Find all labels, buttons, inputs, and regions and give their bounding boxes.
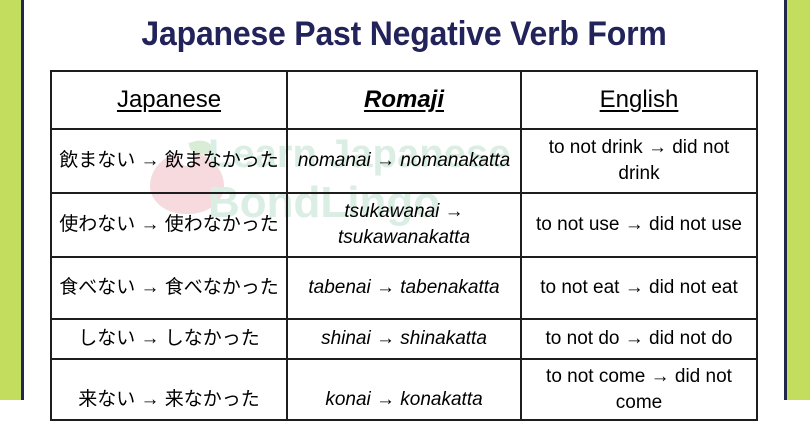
page-root: Japanese Past Negative Verb Form Learn J… [0,0,810,400]
cell-english: to not come → did not come [521,359,757,420]
column-header-japanese: Japanese [51,71,287,129]
table-row: 使わない → 使わなかった tsukawanai → tsukawanakatt… [51,193,757,257]
cell-romaji: tabenai → tabenakatta [287,257,521,319]
table-row: 飲まない → 飲まなかった nomanai → nomanakatta to n… [51,129,757,193]
table-row: 来ない → 来なかった konai → konakatta to not com… [51,359,757,420]
verb-form-table-wrapper: Japanese Romaji English 飲まない → 飲まなかった no… [50,70,756,421]
table-header-row: Japanese Romaji English [51,71,757,129]
divider-line-right [784,0,787,400]
cell-japanese: しない → しなかった [51,319,287,359]
column-header-japanese-label: Japanese [117,86,221,113]
cell-romaji: tsukawanai → tsukawanakatta [287,193,521,257]
cell-japanese: 食べない → 食べなかった [51,257,287,319]
cell-english: to not use → did not use [521,193,757,257]
table-row: 食べない → 食べなかった tabenai → tabenakatta to n… [51,257,757,319]
table-header: Japanese Romaji English [51,71,757,129]
decorative-band-left [0,0,21,400]
table-body: 飲まない → 飲まなかった nomanai → nomanakatta to n… [51,129,757,420]
verb-form-table: Japanese Romaji English 飲まない → 飲まなかった no… [50,70,758,421]
cell-romaji: shinai → shinakatta [287,319,521,359]
table-row: しない → しなかった shinai → shinakatta to not d… [51,319,757,359]
cell-english: to not drink → did not drink [521,129,757,193]
column-header-romaji: Romaji [287,71,521,129]
cell-japanese: 飲まない → 飲まなかった [51,129,287,193]
decorative-band-right [787,0,810,400]
column-header-english-label: English [600,86,679,113]
column-header-romaji-label: Romaji [364,86,444,113]
cell-romaji: nomanai → nomanakatta [287,129,521,193]
page-title: Japanese Past Negative Verb Form [47,8,761,60]
cell-english: to not eat → did not eat [521,257,757,319]
cell-romaji: konai → konakatta [287,359,521,420]
divider-line-left [21,0,24,400]
column-header-english: English [521,71,757,129]
cell-japanese: 来ない → 来なかった [51,359,287,420]
cell-japanese: 使わない → 使わなかった [51,193,287,257]
cell-english: to not do → did not do [521,319,757,359]
